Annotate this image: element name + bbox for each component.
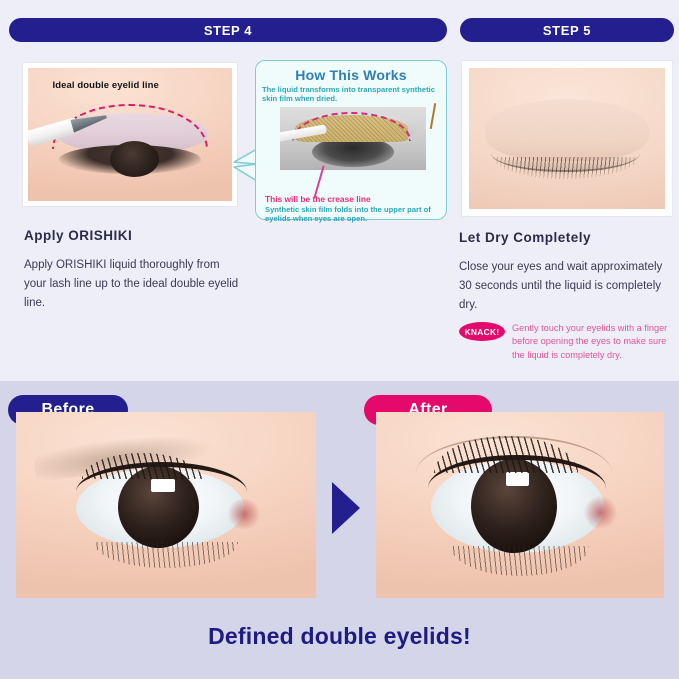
closed-eyelid bbox=[485, 99, 650, 161]
step4-eye-illustration: Ideal double eyelid line bbox=[28, 68, 232, 201]
ideal-line-label: Ideal double eyelid line bbox=[52, 80, 158, 91]
step4-header-pill: STEP 4 bbox=[9, 18, 447, 42]
after-photo-frame bbox=[376, 412, 664, 598]
before-photo-frame bbox=[16, 412, 316, 598]
transition-arrow-icon bbox=[332, 482, 360, 534]
knack-badge: KNACK! bbox=[459, 322, 505, 341]
step5-closed-eye-illustration bbox=[469, 68, 665, 209]
before-after-section: Before After Defined doub bbox=[0, 381, 679, 679]
result-caption: Defined double eyelids! bbox=[0, 623, 679, 650]
page-root: { "page": { "background_top": "#eeeef9",… bbox=[0, 0, 679, 679]
inner-canthus bbox=[583, 496, 618, 529]
after-eye-image bbox=[376, 412, 664, 598]
step5-column: STEP 5 Let Dry Completely Close your eye… bbox=[455, 0, 679, 381]
inner-canthus bbox=[226, 499, 262, 529]
callout-subtitle: The liquid transforms into transparent s… bbox=[262, 85, 440, 104]
callout-eye-diagram bbox=[280, 107, 426, 170]
step4-body-text: Apply ORISHIKI liquid thoroughly from yo… bbox=[24, 256, 240, 313]
steps-section: STEP 4 Ideal double eyelid line bbox=[0, 0, 679, 381]
crease-line-label: This will be the crease line bbox=[265, 194, 371, 204]
step5-heading: Let Dry Completely bbox=[459, 230, 591, 245]
how-this-works-callout: How This Works The liquid transforms int… bbox=[255, 60, 447, 220]
step4-photo-frame: Ideal double eyelid line bbox=[22, 62, 238, 207]
step5-header-pill: STEP 5 bbox=[460, 18, 674, 42]
leader-line-top bbox=[430, 103, 436, 129]
step5-body-text: Close your eyes and wait approximately 3… bbox=[459, 258, 671, 315]
before-eye-image bbox=[16, 412, 316, 598]
crease-line-description: Synthetic skin film folds into the upper… bbox=[265, 205, 443, 224]
knack-tip-text: Gently touch your eyelids with a finger … bbox=[512, 322, 677, 362]
step4-column: STEP 4 Ideal double eyelid line bbox=[8, 0, 448, 381]
step5-photo-frame bbox=[461, 60, 673, 217]
step4-heading: Apply ORISHIKI bbox=[24, 228, 132, 243]
knack-tip-row: KNACK! Gently touch your eyelids with a … bbox=[459, 322, 677, 362]
callout-title: How This Works bbox=[256, 67, 446, 83]
